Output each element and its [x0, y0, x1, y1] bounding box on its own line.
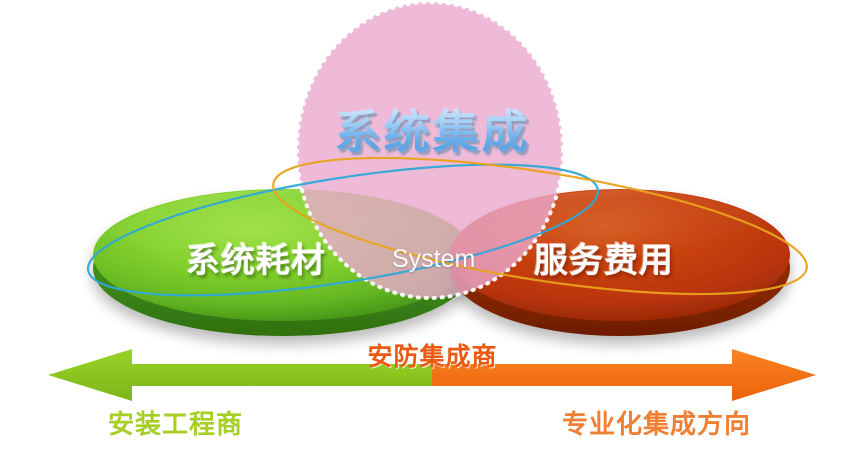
label-specialized-integration-direction: 专业化集成方向	[562, 404, 751, 441]
label-service-fees: 服务费用	[534, 233, 674, 282]
title-system-integration: 系统集成	[0, 96, 865, 162]
label-installation-contractor: 安装工程商	[108, 404, 243, 441]
venn-illustration	[0, 0, 865, 450]
label-security-integrator: 安防集成商	[0, 337, 865, 373]
label-system-center: System	[392, 245, 475, 274]
label-system-consumables: 系统耗材	[186, 233, 326, 282]
diagram-canvas: 系统集成 系统集成 系统耗材 服务费用 System 安防集成商 安装工程商 专…	[0, 0, 865, 450]
